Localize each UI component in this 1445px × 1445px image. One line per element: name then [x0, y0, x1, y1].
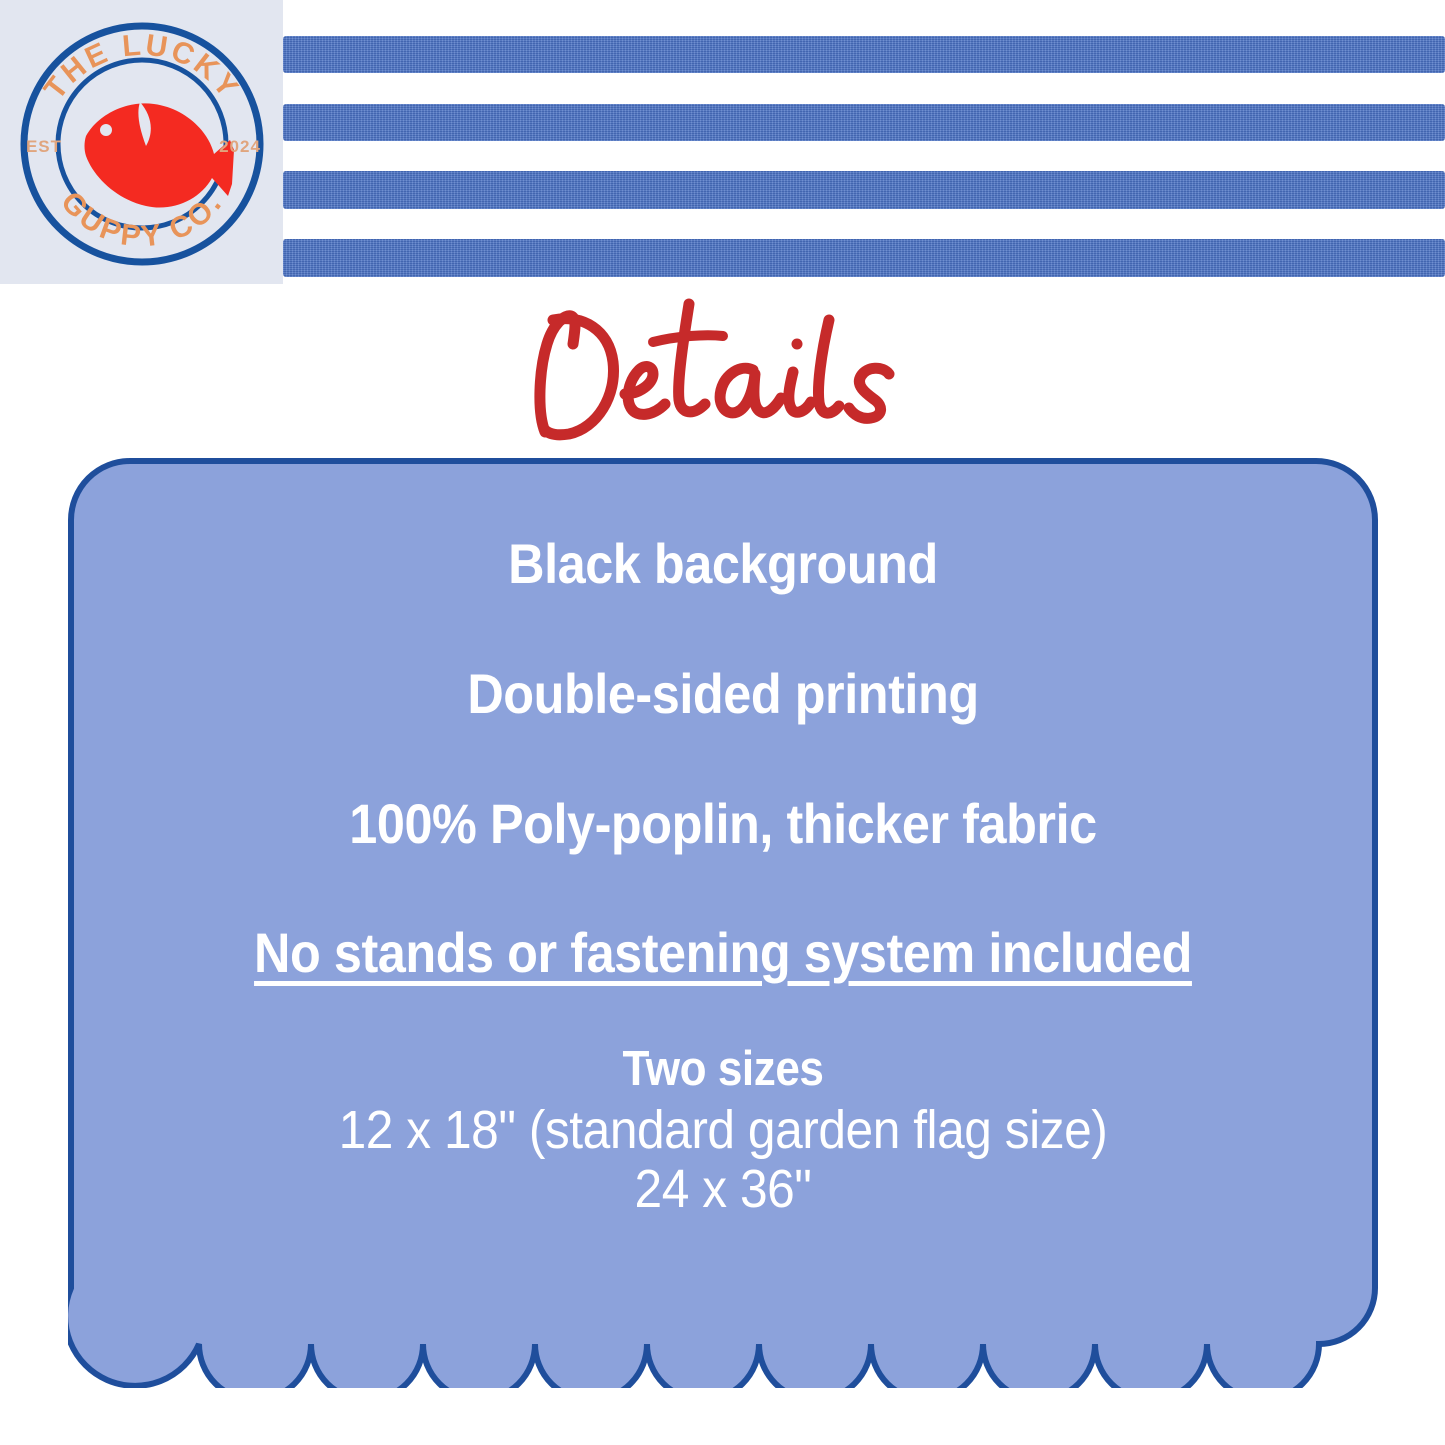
- fabric-stripe: [283, 36, 1445, 73]
- detail-line-poly-poplin: 100% Poly-poplin, thicker fabric: [134, 791, 1313, 856]
- detail-line-no-stands: No stands or fastening system included: [134, 920, 1313, 985]
- details-card: Black background Double-sided printing 1…: [68, 458, 1378, 1388]
- detail-line-double-sided-printing: Double-sided printing: [134, 661, 1313, 726]
- logo-top-text: THE LUCKY: [38, 29, 246, 106]
- fabric-stripe: [283, 104, 1445, 141]
- detail-line-size-small: 12 x 18" (standard garden flag size): [120, 1099, 1325, 1161]
- detail-line-size-large: 24 x 36": [120, 1158, 1325, 1220]
- detail-line-black-background: Black background: [134, 531, 1313, 596]
- fabric-stripe: [283, 239, 1445, 277]
- brand-logo-badge: THE LUCKY GUPPY CO. EST 2024: [0, 0, 283, 284]
- detail-line-two-sizes: Two sizes: [134, 1041, 1313, 1097]
- fabric-stripe: [283, 171, 1445, 209]
- card-content: Black background Double-sided printing 1…: [68, 458, 1378, 1388]
- logo-est-text: EST: [26, 137, 62, 156]
- logo-svg: THE LUCKY GUPPY CO. EST 2024: [0, 0, 283, 284]
- logo-year-text: 2024: [219, 137, 261, 156]
- details-script-svg: [513, 286, 933, 458]
- details-heading: [0, 286, 1445, 458]
